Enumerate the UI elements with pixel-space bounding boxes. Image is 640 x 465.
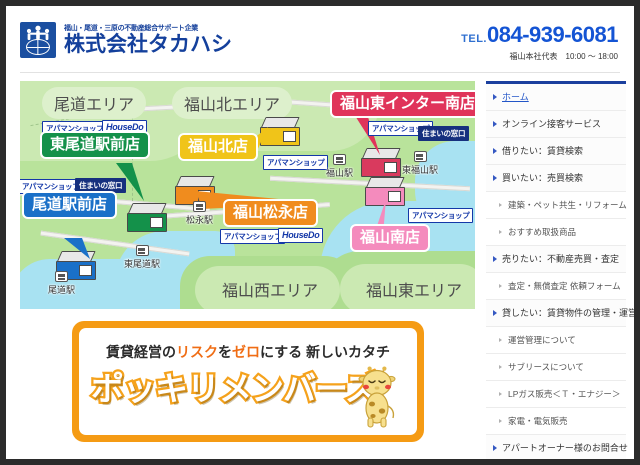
sidebar-item-rent-search[interactable]: 借りたい：賃貸検索 (486, 138, 626, 165)
brand-badge-apaman: アパマンショップ (263, 155, 328, 170)
sidebar-item-construction-pet-reform[interactable]: 建築・ペット共生・リフォーム (486, 192, 626, 219)
chevron-right-icon (499, 392, 502, 396)
chevron-right-icon (499, 338, 502, 342)
sidebar-item-rent-management[interactable]: 貸したい：賃貸物件の管理・運営 (486, 300, 626, 327)
sidebar-nav: ホーム オンライン接客サービス 借りたい：賃貸検索 買いたい：売買検索 建築・ペ… (486, 81, 626, 459)
chevron-right-icon (493, 256, 497, 262)
sidebar-item-label: 貸したい：賃貸物件の管理・運営 (502, 308, 634, 318)
banner-title: ポッキリメンバーズ (91, 368, 377, 410)
brand-badge-apaman: アパマンショップ (408, 208, 473, 223)
main-content: 尾道エリア 福山北エリア 福山西エリア 福山東エリア (20, 81, 475, 442)
store-location-map[interactable]: 尾道エリア 福山北エリア 福山西エリア 福山東エリア (20, 81, 475, 309)
company-name: 株式会社タカハシ (64, 33, 232, 56)
train-station-icon (333, 154, 346, 165)
brand-badge-apaman: アパマンショップ (220, 229, 285, 244)
banner-inner: 賃貸経営のリスクをゼロにする 新しいカタチ ポッキリメンバーズ (79, 328, 417, 435)
map-store-pin-fukuyamakita[interactable]: 福山北店 (178, 133, 258, 161)
giraffe-mascot-icon (357, 366, 401, 428)
chevron-right-icon (493, 94, 497, 100)
sidebar-item-label: 運営管理について (508, 335, 576, 345)
banner-text-risk: リスク (176, 344, 218, 360)
sidebar-item-label: アパートオーナー様のお問合せ (502, 443, 628, 453)
pokkiri-members-banner[interactable]: 賃貸経営のリスクをゼロにする 新しいカタチ ポッキリメンバーズ (72, 321, 424, 442)
chevron-right-icon (499, 230, 502, 234)
sidebar-item-label: 家電・電気販売 (508, 416, 568, 426)
page-root: 福山・尾道・三原の不動産総合サポート企業 株式会社タカハシ TEL.084-93… (6, 6, 634, 459)
people-globe-icon (25, 25, 51, 40)
sidebar-item-label: ホーム (502, 92, 529, 102)
banner-text-zero: ゼロ (232, 344, 260, 360)
sidebar-item-appraisal-form[interactable]: 査定・無償査定 依頼フォーム (486, 273, 626, 300)
sidebar-item-label: サブリースについて (508, 362, 584, 372)
sidebar-item-label: 売りたい：不動産売買・査定 (502, 254, 619, 264)
train-station-icon (55, 271, 68, 282)
chevron-right-icon (493, 310, 497, 316)
chevron-right-icon (499, 284, 502, 288)
map-station: 東尾道駅 (124, 245, 160, 270)
sidebar-item-home[interactable]: ホーム (486, 84, 626, 111)
chevron-right-icon (499, 203, 502, 207)
telephone-block: TEL.084-939-6081 福山本社代表 10:00 ～ 18:00 (461, 24, 618, 62)
tel-number: 084-939-6081 (487, 22, 618, 47)
logo-tagline: 福山・尾道・三原の不動産総合サポート企業 (64, 24, 232, 33)
banner-subtitle: 賃貸経営のリスクをゼロにする 新しいカタチ (79, 342, 417, 362)
sidebar-item-buy-search[interactable]: 買いたい：売買検索 (486, 165, 626, 192)
sidebar-item-sell-appraisal[interactable]: 売りたい：不動産売買・査定 (486, 246, 626, 273)
brand-badge-housedo: HouseDo (278, 228, 323, 243)
map-station: 東福山駅 (402, 151, 438, 176)
site-header: 福山・尾道・三原の不動産総合サポート企業 株式会社タカハシ TEL.084-93… (6, 6, 634, 66)
sidebar-item-label: おすすめ取扱商品 (508, 227, 576, 237)
sidebar-item-sublease[interactable]: サブリースについて (486, 354, 626, 381)
company-logo-icon (20, 22, 56, 58)
train-station-icon (136, 245, 149, 256)
train-station-icon (193, 201, 206, 212)
chevron-right-icon (499, 419, 502, 423)
site-logo[interactable]: 福山・尾道・三原の不動産総合サポート企業 株式会社タカハシ (20, 22, 232, 58)
map-store-pin-fukuyamamatsunaga[interactable]: 福山松永店 (223, 199, 318, 227)
banner-text-post: にする 新しいカタチ (260, 344, 390, 360)
chevron-right-icon (499, 365, 502, 369)
sidebar-item-operation-management[interactable]: 運営管理について (486, 327, 626, 354)
sidebar-item-appliance-electric[interactable]: 家電・電気販売 (486, 408, 626, 435)
map-store-pin-higashionomichi[interactable]: 東尾道駅前店 (40, 131, 150, 159)
map-store-pin-fukuyamahigashi-inter-minami[interactable]: 福山東インター南店 (330, 90, 475, 118)
map-station: 福山駅 (326, 154, 353, 179)
chevron-right-icon (493, 121, 497, 127)
banner-text-mid: を (218, 344, 232, 360)
sidebar-item-label: 借りたい：賃貸検索 (502, 146, 583, 156)
sidebar-item-label: 建築・ペット共生・リフォーム (508, 200, 627, 210)
chevron-right-icon (493, 445, 497, 451)
sidebar-item-label: 査定・無償査定 依頼フォーム (508, 281, 621, 291)
sidebar-item-owner-inquiry[interactable]: アパートオーナー様のお問合せ (486, 435, 626, 459)
tel-hours: 福山本社代表 10:00 ～ 18:00 (461, 51, 618, 62)
map-store-pin-onomichi[interactable]: 尾道駅前店 (22, 191, 117, 219)
brand-badge-madoguchi: 住まいの窓口 (418, 126, 469, 141)
map-station: 松永駅 (186, 201, 213, 226)
map-store-pin-fukuyamaminami[interactable]: 福山南店 (350, 224, 430, 252)
header-divider (20, 72, 620, 73)
train-station-icon (414, 151, 427, 162)
banner-text-pre: 賃貸経営の (106, 344, 176, 360)
sidebar-item-label: オンライン接客サービス (502, 119, 601, 129)
sidebar-item-lp-gas[interactable]: LPガス販売＜Ｔ・エナジー＞ (486, 381, 626, 408)
sidebar-item-label: 買いたい：売買検索 (502, 173, 583, 183)
chevron-right-icon (493, 175, 497, 181)
tel-label: TEL. (461, 33, 487, 45)
sidebar-item-recommended-products[interactable]: おすすめ取扱商品 (486, 219, 626, 246)
chevron-right-icon (493, 148, 497, 154)
sidebar-item-label: LPガス販売＜Ｔ・エナジー＞ (508, 389, 620, 399)
map-station: 尾道駅 (48, 271, 75, 296)
sidebar-item-online-service[interactable]: オンライン接客サービス (486, 111, 626, 138)
